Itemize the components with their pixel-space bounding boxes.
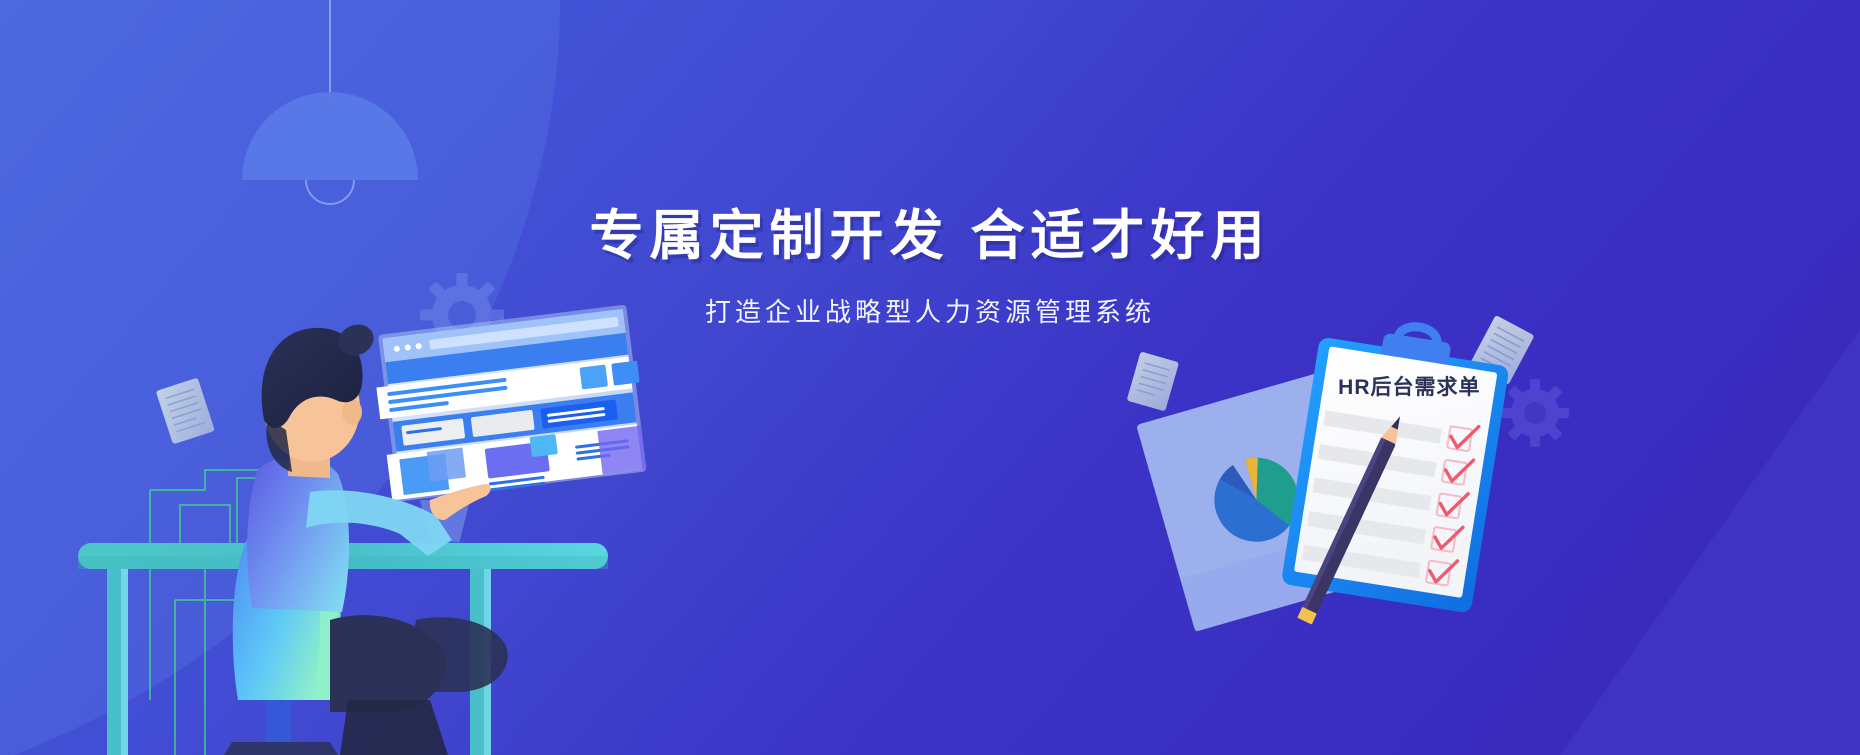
clipboard-title-text: HR后台需求单 xyxy=(1338,375,1480,399)
page-title: 专属定制开发 合适才好用 xyxy=(0,205,1860,267)
illustration-hr-clipboard: HR后台需求单 xyxy=(0,0,1860,755)
clipboard: HR后台需求单 xyxy=(1281,312,1514,614)
hr-marketing-banner: HR后台需求单 专属定制开发 合适才好用 打造企业战略型人力资源管理系统 xyxy=(0,0,1860,755)
page-subtitle: 打造企业战略型人力资源管理系统 xyxy=(0,295,1860,329)
